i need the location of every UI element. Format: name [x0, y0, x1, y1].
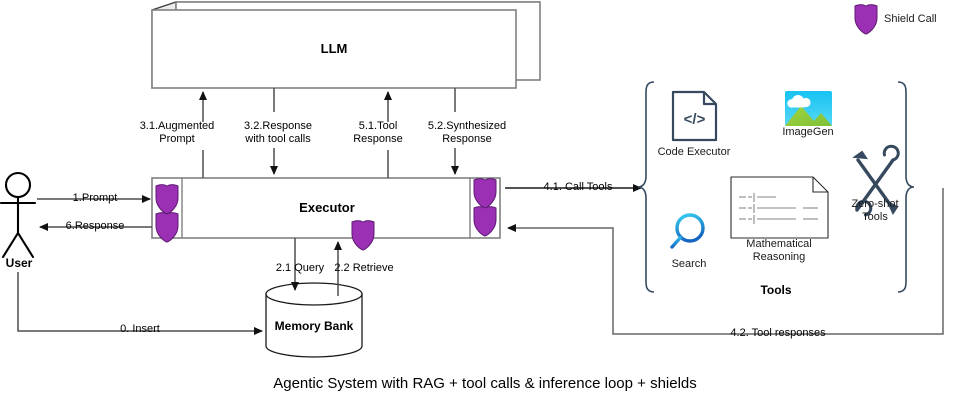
- executor-title: Executor: [299, 201, 355, 214]
- legend-shield-label: Shield Call: [884, 13, 937, 26]
- user-leg-right: [18, 233, 33, 257]
- math-document-icon[interactable]: [731, 177, 828, 238]
- tools-bracket-left: [638, 82, 654, 292]
- user-head: [6, 173, 30, 197]
- edge-label-synth-response-1: 5.2.Synthesized: [428, 120, 506, 133]
- memory-bank-title: Memory Bank: [275, 320, 354, 333]
- edge-label-resp-tool-calls-1: 3.2.Response: [244, 120, 312, 133]
- edge-label-resp-tool-calls-2: with tool calls: [245, 133, 310, 146]
- tool-label-code-executor: Code Executor: [658, 146, 731, 159]
- magnifier-handle: [672, 238, 680, 247]
- edge-label-insert: 0. Insert: [120, 323, 160, 336]
- user-leg-left: [3, 233, 18, 257]
- edge-label-tool-response-1: 5.1.Tool: [359, 120, 398, 133]
- tool-label-math-1: Mathematical: [746, 238, 811, 251]
- user-node[interactable]: [1, 173, 35, 257]
- edge-label-retrieve: 2.2 Retrieve: [334, 262, 393, 275]
- tool-label-zeroshot-2: Tools: [862, 211, 888, 224]
- tools-group-label: Tools: [760, 284, 791, 297]
- memory-bank-top: [266, 283, 362, 305]
- tools-bracket-right: [898, 82, 914, 292]
- code-document-icon[interactable]: </>: [673, 92, 716, 140]
- user-label: User: [6, 257, 33, 270]
- image-picture-icon[interactable]: [785, 91, 832, 126]
- edge-label-tool-responses: 4.2. Tool responses: [730, 327, 825, 340]
- diagram-canvas: </>: [0, 0, 970, 411]
- tool-label-imagegen: ImageGen: [782, 126, 833, 139]
- edge-label-tool-response-2: Response: [353, 133, 403, 146]
- tool-label-zeroshot-1: Zero-shot: [851, 198, 898, 211]
- edge-label-augmented-prompt-2: Prompt: [159, 133, 194, 146]
- llm-title: LLM: [321, 42, 348, 55]
- edge-label-call-tools: 4.1. Call Tools: [544, 181, 613, 194]
- edge-label-prompt: 1.Prompt: [73, 192, 118, 205]
- shield-icon-legend: [855, 5, 877, 34]
- tool-label-math-2: Reasoning: [753, 251, 806, 264]
- diagram-caption: Agentic System with RAG + tool calls & i…: [273, 375, 697, 392]
- code-doc-glyph: </>: [684, 111, 706, 128]
- edge-label-synth-response-2: Response: [442, 133, 492, 146]
- edge-label-query: 2.1 Query: [276, 262, 324, 275]
- shield-icon-executor-memory[interactable]: [352, 221, 374, 250]
- edge-label-augmented-prompt-1: 3.1.Augmented: [140, 120, 215, 133]
- magnifier-icon[interactable]: [672, 215, 703, 247]
- edge-label-response: 6.Response: [66, 220, 125, 233]
- tool-label-search: Search: [672, 258, 707, 271]
